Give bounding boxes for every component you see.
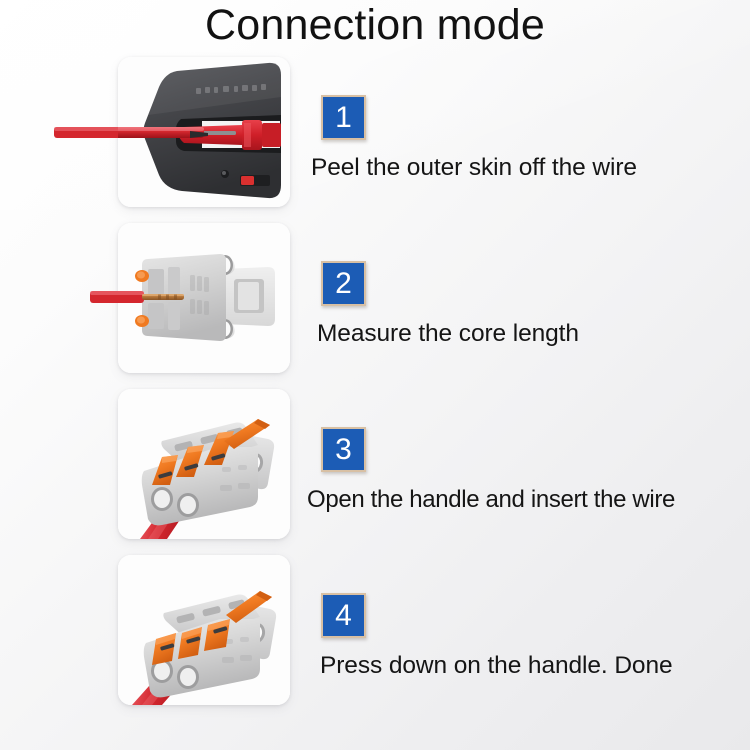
step-4-caption: Press down on the handle. Done <box>320 651 750 681</box>
step-row-2: 2 Measure the core length <box>0 215 750 387</box>
step-1-caption: Peel the outer skin off the wire <box>311 153 749 183</box>
connector-closed-levers-photo <box>118 555 290 705</box>
step-1-photo-card <box>118 57 290 207</box>
step-3-caption: Open the handle and insert the wire <box>307 485 745 515</box>
step-2-photo-card <box>118 223 290 373</box>
connection-mode-infographic: Connection mode <box>0 0 750 750</box>
step-row-1: 1 Peel the outer skin off the wire <box>0 49 750 221</box>
wire-stripper-illustration <box>118 57 290 207</box>
wire-overflow-left-2 <box>54 223 124 373</box>
step-3-photo-card <box>118 389 290 539</box>
step-4-number-badge: 4 <box>321 593 366 638</box>
step-1-number-badge: 1 <box>321 95 366 140</box>
connector-open-illustration <box>118 389 290 539</box>
step-3-number-badge: 3 <box>321 427 366 472</box>
step-2-caption: Measure the core length <box>317 319 750 349</box>
connector-measure-photo <box>118 223 290 373</box>
wire-stripper-tool-photo <box>118 57 290 207</box>
connector-open-levers-photo <box>118 389 290 539</box>
page-title: Connection mode <box>0 1 750 49</box>
connector-measure-illustration <box>118 223 290 373</box>
step-row-3: 3 Open the handle and insert the wire <box>0 381 750 553</box>
step-2-number-badge: 2 <box>321 261 366 306</box>
wire-overflow-left-1 <box>54 57 124 207</box>
step-row-4: 4 Press down on the handle. Done <box>0 547 750 719</box>
connector-closed-illustration <box>118 555 290 705</box>
step-4-photo-card <box>118 555 290 705</box>
